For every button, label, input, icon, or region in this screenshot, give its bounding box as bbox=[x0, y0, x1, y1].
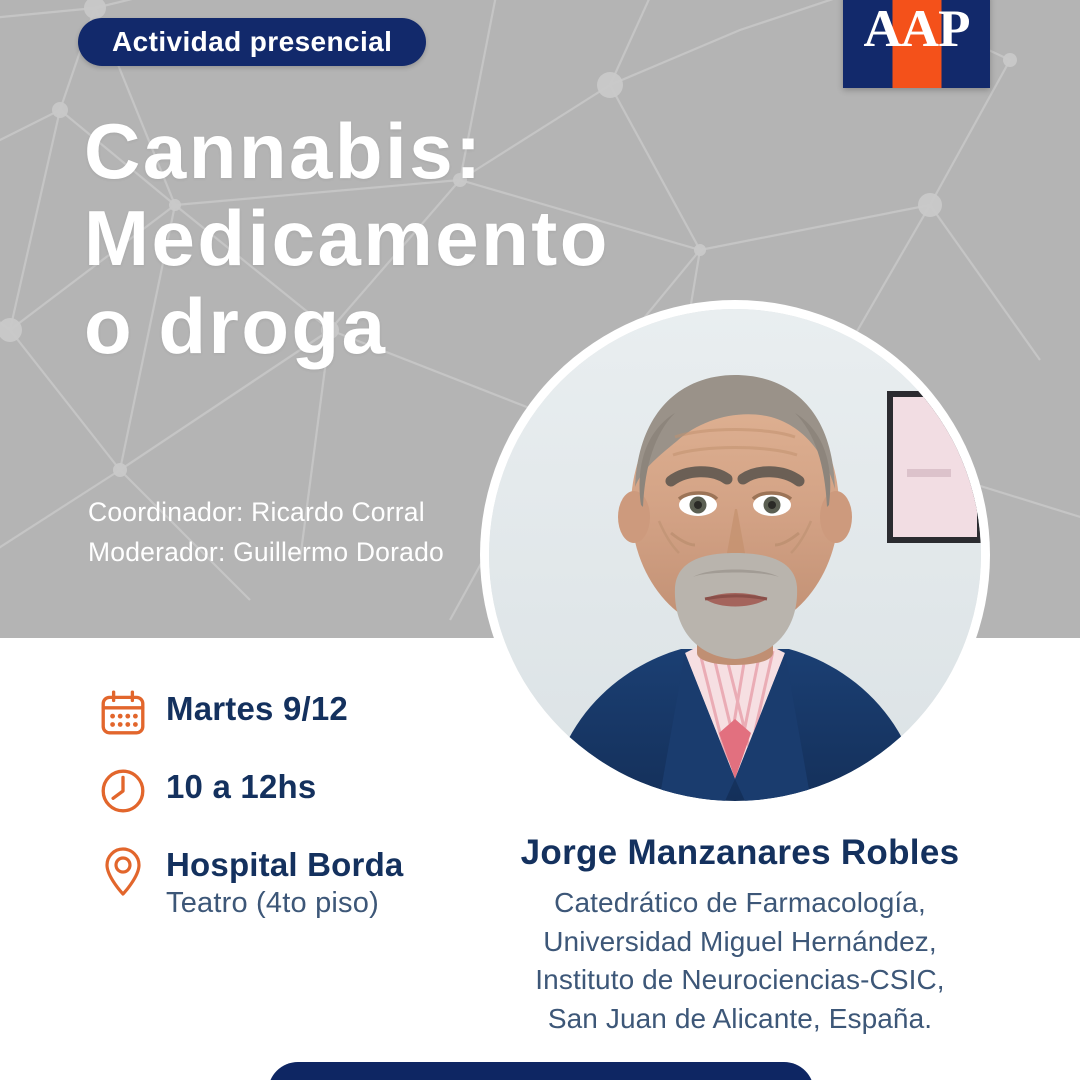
detail-row-date: Martes 9/12 bbox=[96, 686, 496, 740]
event-venue: Hospital Borda bbox=[166, 847, 404, 884]
affiliation-line-2: Universidad Miguel Hernández, bbox=[460, 923, 1020, 962]
event-flyer: AAP Actividad presencial Cannabis: Medic… bbox=[0, 0, 1080, 1080]
calendar-icon bbox=[96, 686, 150, 740]
logo-text: AAP bbox=[843, 0, 990, 64]
affiliation-line-1: Catedrático de Farmacología, bbox=[460, 884, 1020, 923]
event-time: 10 a 12hs bbox=[166, 769, 316, 806]
event-details: Martes 9/12 10 a 12hs Hosp bbox=[96, 686, 496, 921]
event-venue-detail: Teatro (4to piso) bbox=[166, 886, 404, 921]
speaker-block: Jorge Manzanares Robles Catedrático de F… bbox=[460, 832, 1020, 1039]
detail-row-time: 10 a 12hs bbox=[96, 764, 496, 818]
title-line-2: Medicamento bbox=[84, 195, 724, 282]
location-text-group: Hospital Borda Teatro (4to piso) bbox=[166, 842, 404, 921]
speaker-affiliation: Catedrático de Farmacología, Universidad… bbox=[460, 884, 1020, 1039]
time-text-group: 10 a 12hs bbox=[166, 764, 316, 806]
detail-row-location: Hospital Borda Teatro (4to piso) bbox=[96, 842, 496, 921]
title-line-1: Cannabis: bbox=[84, 108, 724, 195]
coordinator-line: Coordinador: Ricardo Corral bbox=[88, 492, 558, 532]
event-title: Cannabis: Medicamento o droga bbox=[84, 108, 724, 370]
event-date: Martes 9/12 bbox=[166, 691, 348, 728]
date-text-group: Martes 9/12 bbox=[166, 686, 348, 728]
map-pin-icon bbox=[96, 844, 150, 898]
clock-icon bbox=[96, 764, 150, 818]
aap-logo: AAP bbox=[843, 0, 990, 88]
registration-button[interactable] bbox=[268, 1062, 814, 1080]
speaker-name: Jorge Manzanares Robles bbox=[460, 832, 1020, 874]
speaker-portrait-illustration bbox=[489, 309, 981, 801]
moderator-line: Moderador: Guillermo Dorado bbox=[88, 532, 558, 572]
credits-block: Coordinador: Ricardo Corral Moderador: G… bbox=[88, 492, 558, 573]
modality-badge: Actividad presencial bbox=[78, 18, 426, 66]
speaker-photo bbox=[489, 309, 981, 801]
affiliation-line-4: San Juan de Alicante, España. bbox=[460, 1000, 1020, 1039]
affiliation-line-3: Instituto de Neurociencias-CSIC, bbox=[460, 961, 1020, 1000]
